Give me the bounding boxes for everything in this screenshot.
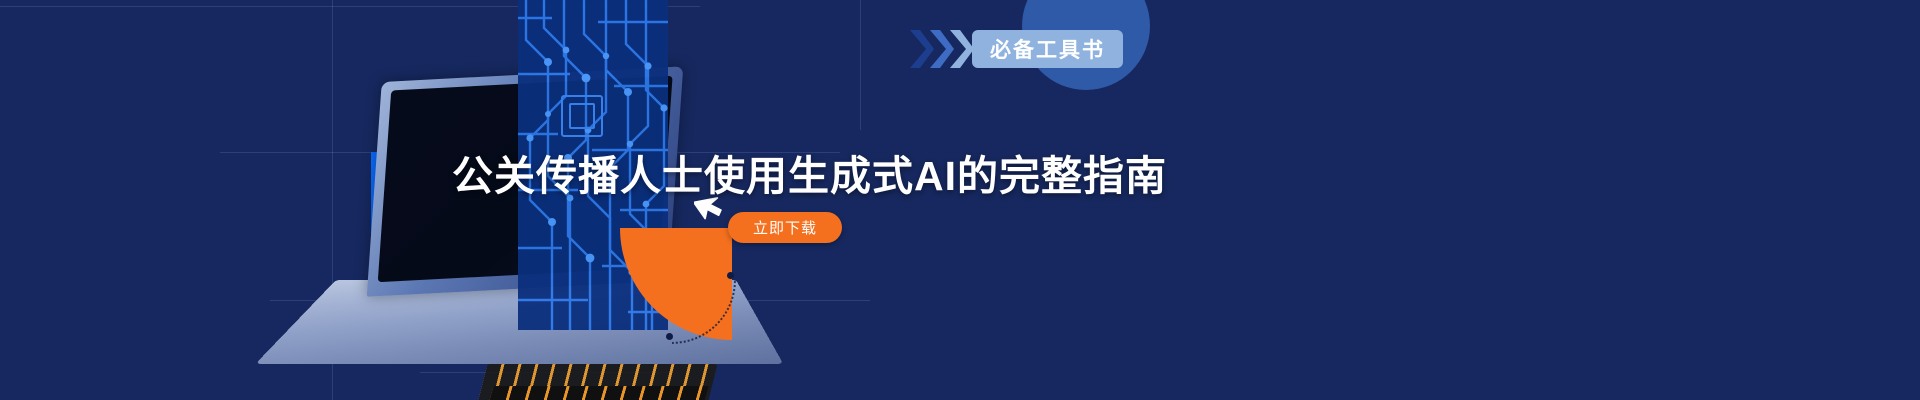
badge-pill: 必备工具书 (972, 30, 1123, 68)
chevron-right-icon (948, 28, 974, 70)
arc-node-dot (666, 333, 673, 340)
chevron-group (908, 28, 968, 70)
arc-node-dot (727, 272, 734, 279)
download-button[interactable]: 立即下载 (728, 212, 842, 243)
promo-banner: 必备工具书 公关传播人士使用生成式AI的完整指南 立即下载 (0, 0, 1920, 400)
right-gradient-overlay (1160, 0, 1920, 400)
grid-line-vertical (860, 0, 861, 130)
badge: 必备工具书 (908, 28, 1123, 70)
laptop-keyboard-row (486, 386, 708, 400)
download-button-label: 立即下载 (753, 217, 817, 238)
page-title: 公关传播人士使用生成式AI的完整指南 (452, 142, 1167, 202)
badge-label: 必备工具书 (990, 34, 1105, 64)
